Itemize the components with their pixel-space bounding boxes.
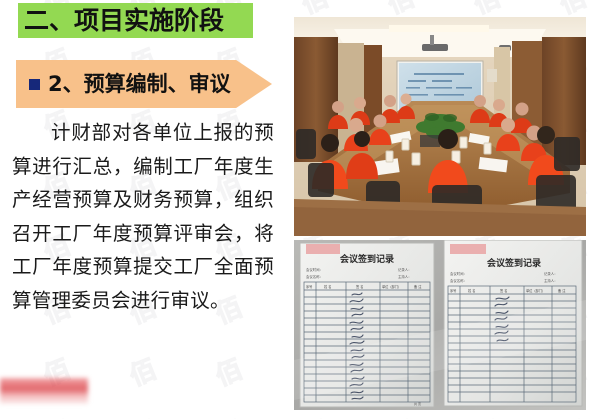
body-paragraph: 计财部对各单位上报的预算进行汇总，编制工厂年度生产经营预算及财务预算，组织召开工… xyxy=(12,116,274,317)
svg-text:会议签到记录: 会议签到记录 xyxy=(487,257,541,269)
svg-text:会议签到记录: 会议签到记录 xyxy=(340,253,394,265)
svg-text:会议名称：: 会议名称： xyxy=(450,278,467,283)
svg-text:主持人：: 主持人： xyxy=(398,274,412,279)
sub-heading-text: 2、预算编制、审议 xyxy=(48,67,231,101)
square-bullet-icon xyxy=(29,79,40,90)
svg-text:备 注: 备 注 xyxy=(558,288,566,293)
sub-heading-arrow-banner: 2、预算编制、审议 xyxy=(16,60,272,108)
svg-text:单位（部门）: 单位（部门） xyxy=(382,284,401,289)
section-heading-text: 二、项目实施阶段 xyxy=(24,4,224,38)
slide-canvas: 佰佰佰佰佰佰佰佰佰佰佰佰佰佰佰佰佰佰佰佰佰佰佰佰佰佰佰佰佰佰佰佰佰佰佰佰佰佰佰佰… xyxy=(0,0,600,419)
left-content-column: 二、项目实施阶段 2、预算编制、审议 计财部对各单位上报的预算进行汇总，编制工厂… xyxy=(0,0,292,419)
svg-text:姓 名: 姓 名 xyxy=(324,284,331,289)
svg-text:会议时间：: 会议时间： xyxy=(306,267,323,272)
svg-text:会议时间：: 会议时间： xyxy=(450,271,467,276)
signin-sheets-photo: 会议签到记录 会议时间：记录人： 会议名称：主持人： xyxy=(294,240,586,410)
svg-text:共 页: 共 页 xyxy=(414,401,421,406)
svg-text:签 名: 签 名 xyxy=(356,284,363,289)
meeting-room-photo xyxy=(294,17,586,236)
svg-text:序号: 序号 xyxy=(450,288,456,293)
svg-text:记录人：: 记录人： xyxy=(544,271,558,276)
svg-text:主持人：: 主持人： xyxy=(544,278,558,283)
svg-text:备 注: 备 注 xyxy=(414,284,422,289)
svg-text:单位（部门）: 单位（部门） xyxy=(526,288,545,293)
svg-text:姓 名: 姓 名 xyxy=(468,288,475,293)
svg-text:会议名称：: 会议名称： xyxy=(306,274,323,279)
section-heading-band: 二、项目实施阶段 xyxy=(18,3,253,38)
svg-text:记录人：: 记录人： xyxy=(398,267,412,272)
meeting-room-illustration xyxy=(294,17,586,236)
svg-text:序号: 序号 xyxy=(306,284,312,289)
signin-sheets-illustration: 会议签到记录 会议时间：记录人： 会议名称：主持人： xyxy=(294,240,586,410)
svg-text:签 名: 签 名 xyxy=(500,288,507,293)
redaction-bar xyxy=(0,378,88,404)
